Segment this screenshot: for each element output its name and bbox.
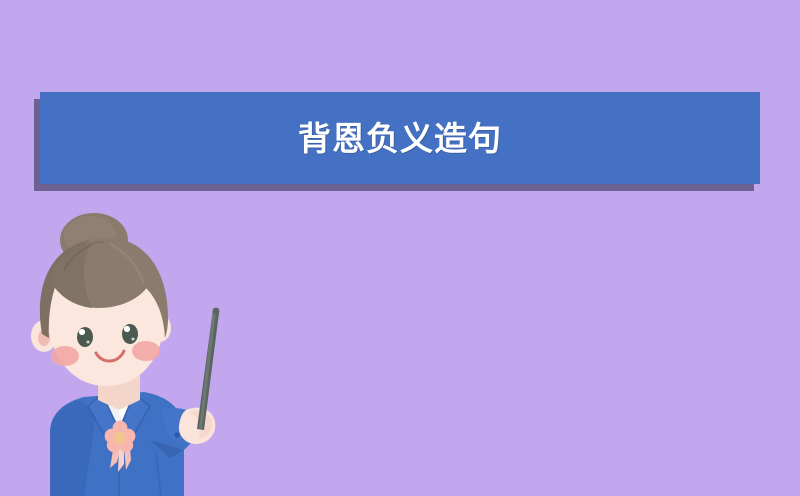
sleeve-button <box>174 432 179 437</box>
slide-canvas: 背恩负义造句 <box>0 0 800 496</box>
teacher-illustration <box>18 214 258 496</box>
right-eye <box>122 324 138 344</box>
left-blush <box>51 346 79 366</box>
page-title: 背恩负义造句 <box>298 122 502 155</box>
title-banner: 背恩负义造句 <box>40 92 760 184</box>
right-blush <box>132 341 160 361</box>
left-eye <box>77 327 93 347</box>
